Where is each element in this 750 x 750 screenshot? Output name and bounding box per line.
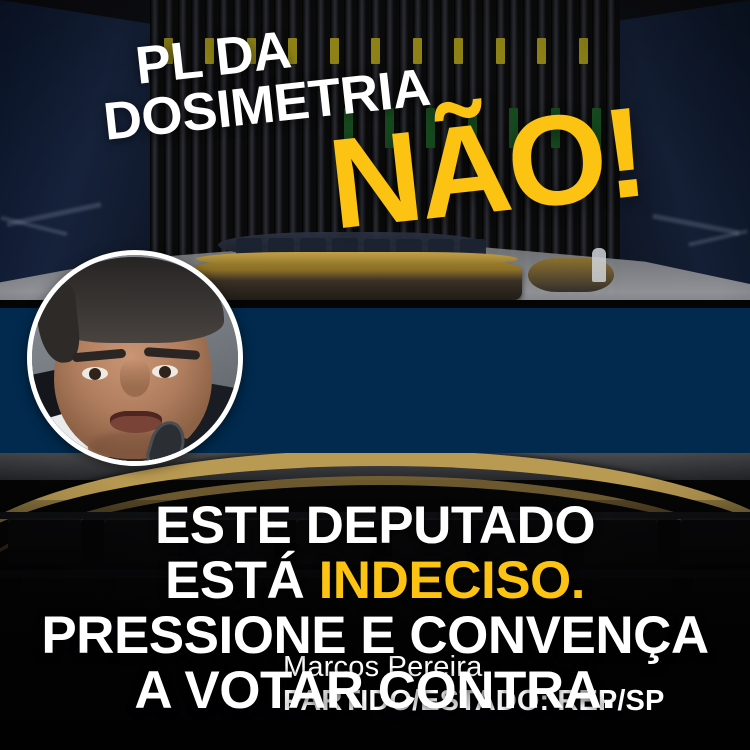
portrait-pupil-left: [89, 368, 101, 380]
campaign-poster: PL DA DOSIMETRIA NÃO! Marcos Pereira PAR…: [0, 0, 750, 750]
politician-party-state: PARTIDO/ESTADO: REP/SP: [283, 684, 664, 718]
portrait-eye-left: [82, 367, 108, 380]
politician-portrait: [32, 255, 238, 461]
portrait-pupil-right: [159, 366, 171, 378]
politician-name-block: Marcos Pereira PARTIDO/ESTADO: REP/SP: [283, 650, 664, 718]
portrait-eye-right: [152, 365, 178, 378]
politician-name: Marcos Pereira: [283, 650, 664, 684]
portrait-nose: [120, 359, 150, 397]
politician-avatar: [27, 250, 243, 466]
